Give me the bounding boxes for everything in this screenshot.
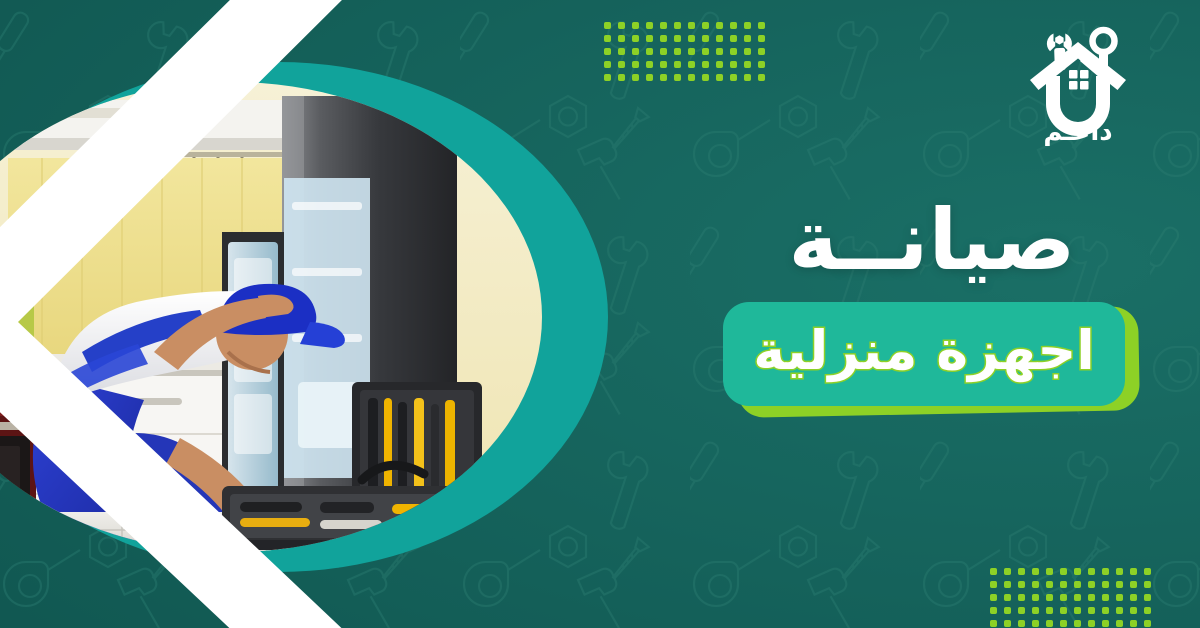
badge-face: اجهزة منزلية	[723, 302, 1125, 406]
grid-dot	[632, 74, 639, 81]
grid-dot	[632, 22, 639, 29]
category-badge[interactable]: اجهزة منزلية	[723, 302, 1153, 418]
grid-dot	[660, 48, 667, 55]
grid-dot	[674, 22, 681, 29]
house-with-wrench-and-spanner-icon: داعـم	[1014, 18, 1142, 146]
grid-dot	[646, 61, 653, 68]
grid-dot	[674, 61, 681, 68]
grid-dot	[604, 48, 611, 55]
grid-dot	[632, 35, 639, 42]
brand-logo[interactable]: داعـم	[1014, 18, 1142, 146]
grid-dot	[674, 35, 681, 42]
badge-label: اجهزة منزلية	[753, 324, 1094, 384]
grid-dot	[674, 74, 681, 81]
grid-dot	[618, 22, 625, 29]
grid-dot	[646, 74, 653, 81]
grid-dot	[632, 61, 639, 68]
grid-dot	[618, 61, 625, 68]
banner-content: داعـم صيانــة اجهزة منزلية	[690, 0, 1160, 628]
grid-dot	[618, 74, 625, 81]
grid-dot	[618, 35, 625, 42]
headline-text: صيانــة	[722, 196, 1142, 284]
grid-dot	[660, 35, 667, 42]
brand-wordmark: داعـم	[1043, 117, 1112, 146]
grid-dot	[604, 22, 611, 29]
promo-banner: داعـم صيانــة اجهزة منزلية	[0, 0, 1200, 628]
grid-dot	[660, 22, 667, 29]
grid-dot	[660, 74, 667, 81]
grid-dot	[618, 48, 625, 55]
grid-dot	[646, 48, 653, 55]
grid-dot	[674, 48, 681, 55]
grid-dot	[646, 22, 653, 29]
grid-dot	[632, 48, 639, 55]
grid-dot	[660, 61, 667, 68]
grid-dot	[604, 74, 611, 81]
grid-dot	[604, 35, 611, 42]
grid-dot	[604, 61, 611, 68]
grid-dot	[646, 35, 653, 42]
